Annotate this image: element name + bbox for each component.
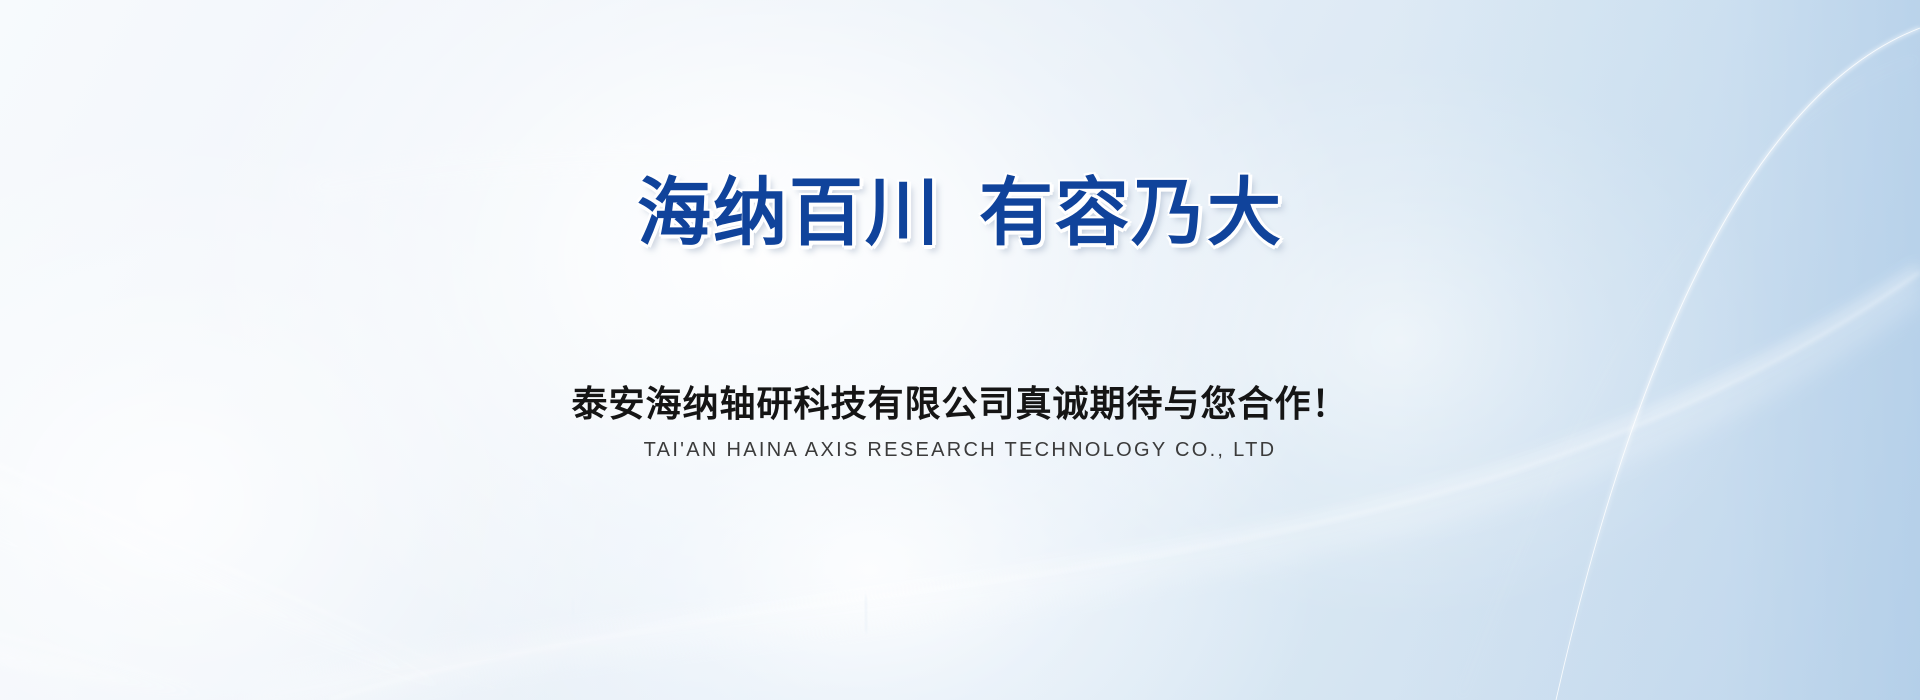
subtitle-english: TAI'AN HAINA AXIS RESEARCH TECHNOLOGY CO… (644, 438, 1277, 462)
hero-content: 海纳百川有容乃大 泰安海纳轴研科技有限公司真诚期待与您合作！ TAI'AN HA… (0, 0, 1920, 700)
headline-part-two: 有容乃大 (979, 170, 1283, 256)
subtitle-chinese: 泰安海纳轴研科技有限公司真诚期待与您合作！ (571, 384, 1348, 425)
page-title: 海纳百川有容乃大 (637, 176, 1283, 250)
headline-part-one: 海纳百川 (637, 170, 941, 256)
hero-banner: 海纳百川有容乃大 泰安海纳轴研科技有限公司真诚期待与您合作！ TAI'AN HA… (0, 0, 1920, 700)
